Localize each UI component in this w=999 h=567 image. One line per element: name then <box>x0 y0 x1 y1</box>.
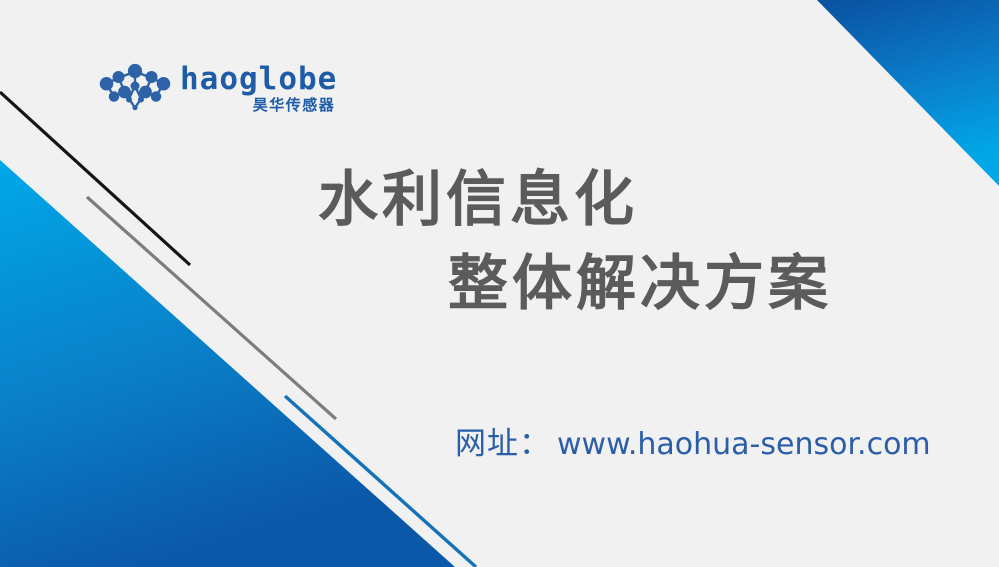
title-line-1: 水利信息化 <box>0 158 999 242</box>
network-nodes-icon <box>96 61 174 117</box>
page-title: 水利信息化 整体解决方案 <box>0 158 999 326</box>
logo-subtitle-cn: 昊华传感器 <box>253 97 336 114</box>
logo-wordmark: haoglobe <box>180 64 337 95</box>
website-line: 网址： www.haohua-sensor.com <box>455 418 931 463</box>
title-line-2: 整体解决方案 <box>0 242 999 326</box>
blue-diagonal-line <box>285 396 476 567</box>
logo-text-group: haoglobe 昊华传感器 <box>180 64 337 114</box>
website-url[interactable]: www.haohua-sensor.com <box>557 427 931 462</box>
website-label: 网址： <box>455 418 551 463</box>
company-logo: haoglobe 昊华传感器 <box>96 58 316 120</box>
title-slide: haoglobe 昊华传感器 水利信息化 整体解决方案 网址： www.haoh… <box>0 0 999 567</box>
